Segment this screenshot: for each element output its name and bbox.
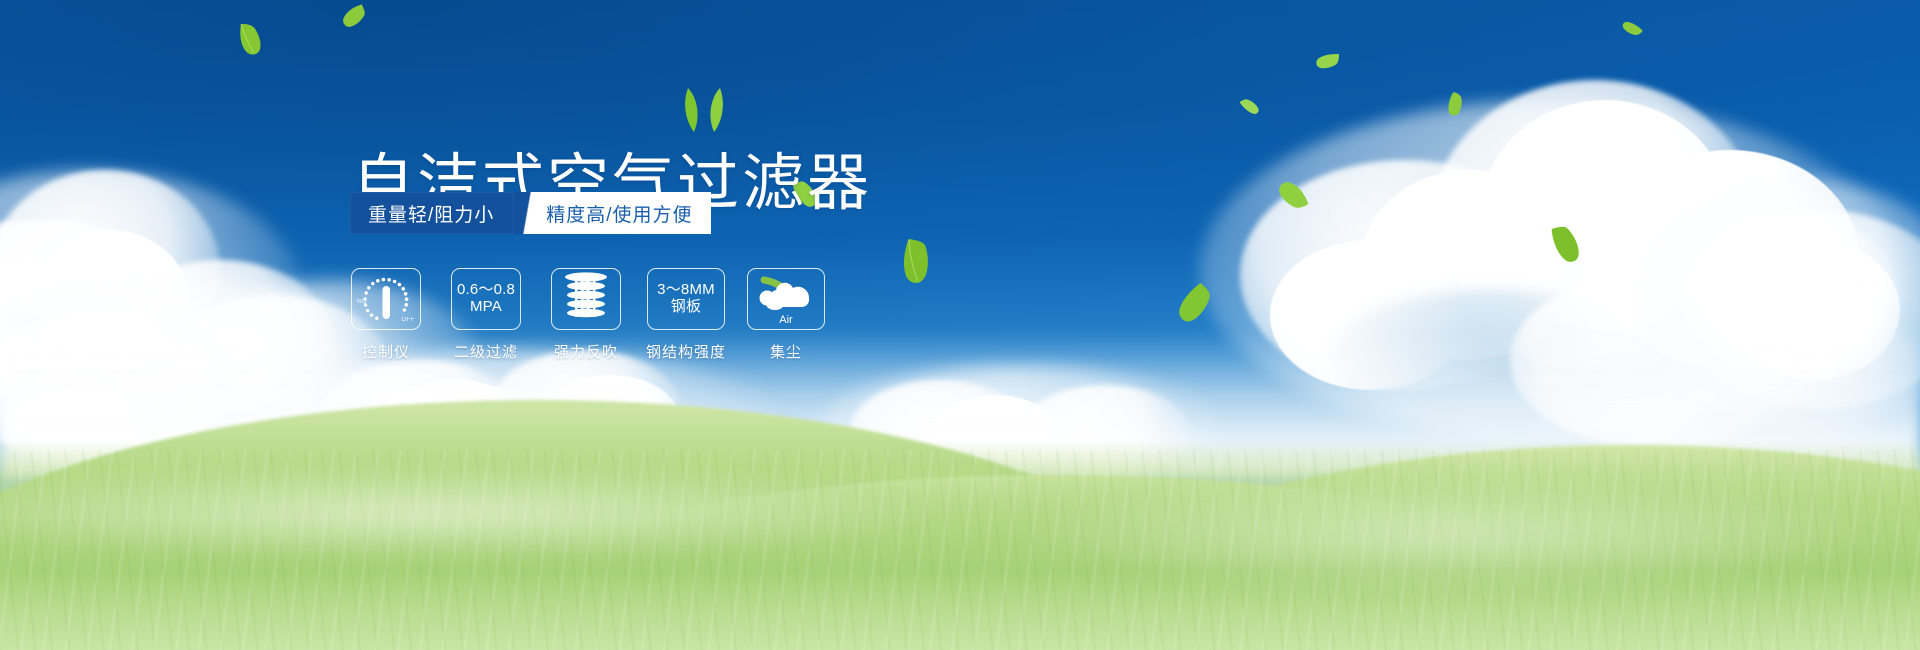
filter-cartridge-icon	[562, 271, 610, 328]
feature-item-blowback[interactable]: 强力反吹	[550, 268, 622, 362]
feature-icon-text-2: MPA	[457, 299, 515, 316]
feature-label: 强力反吹	[554, 341, 618, 362]
feature-icon-text-1: 3～8MM	[657, 282, 715, 299]
banner-content: 自洁式空气过滤器 重量轻/阻力小 精度高/使用方便	[0, 0, 1920, 650]
subtitle-divider	[514, 192, 540, 234]
steel-plate-icon: 3～8MM 钢板	[657, 282, 715, 316]
feature-icon-box	[551, 268, 621, 330]
title-leaves-icon	[672, 86, 732, 134]
feature-label: 控制仪	[362, 341, 410, 362]
feature-label: 钢结构强度	[646, 341, 726, 362]
feature-item-pressure[interactable]: 0.6～0.8 MPA 二级过滤	[450, 268, 522, 362]
gauge-label-off: OFF	[402, 317, 416, 323]
air-cloud-icon: Air	[756, 276, 816, 322]
pressure-value-icon: 0.6～0.8 MPA	[457, 282, 515, 316]
gauge-label-no: NO	[357, 299, 367, 305]
air-label: Air	[756, 314, 816, 326]
feature-item-dust[interactable]: Air 集尘	[750, 268, 822, 362]
control-gauge-icon: NO OFF	[355, 272, 417, 326]
feature-icon-box: NO OFF	[351, 268, 421, 330]
feature-icon-box: Air	[747, 268, 825, 330]
feature-icon-box: 3～8MM 钢板	[647, 268, 725, 330]
feature-list: NO OFF 控制仪 0.6～0.8 MPA 二级过滤	[350, 268, 822, 362]
feature-item-steel[interactable]: 3～8MM 钢板 钢结构强度	[650, 268, 722, 362]
subtitle-right: 精度高/使用方便	[540, 192, 710, 234]
feature-icon-text-1: 0.6～0.8	[457, 282, 515, 299]
feature-icon-text-2: 钢板	[657, 299, 715, 316]
feature-label: 二级过滤	[454, 341, 518, 362]
feature-item-control[interactable]: NO OFF 控制仪	[350, 268, 422, 362]
subtitle-left: 重量轻/阻力小	[350, 192, 514, 234]
feature-icon-box: 0.6～0.8 MPA	[451, 268, 521, 330]
banner-stage: 自洁式空气过滤器 重量轻/阻力小 精度高/使用方便	[0, 0, 1920, 650]
feature-label: 集尘	[770, 341, 802, 362]
subtitle-bar: 重量轻/阻力小 精度高/使用方便	[350, 192, 711, 234]
